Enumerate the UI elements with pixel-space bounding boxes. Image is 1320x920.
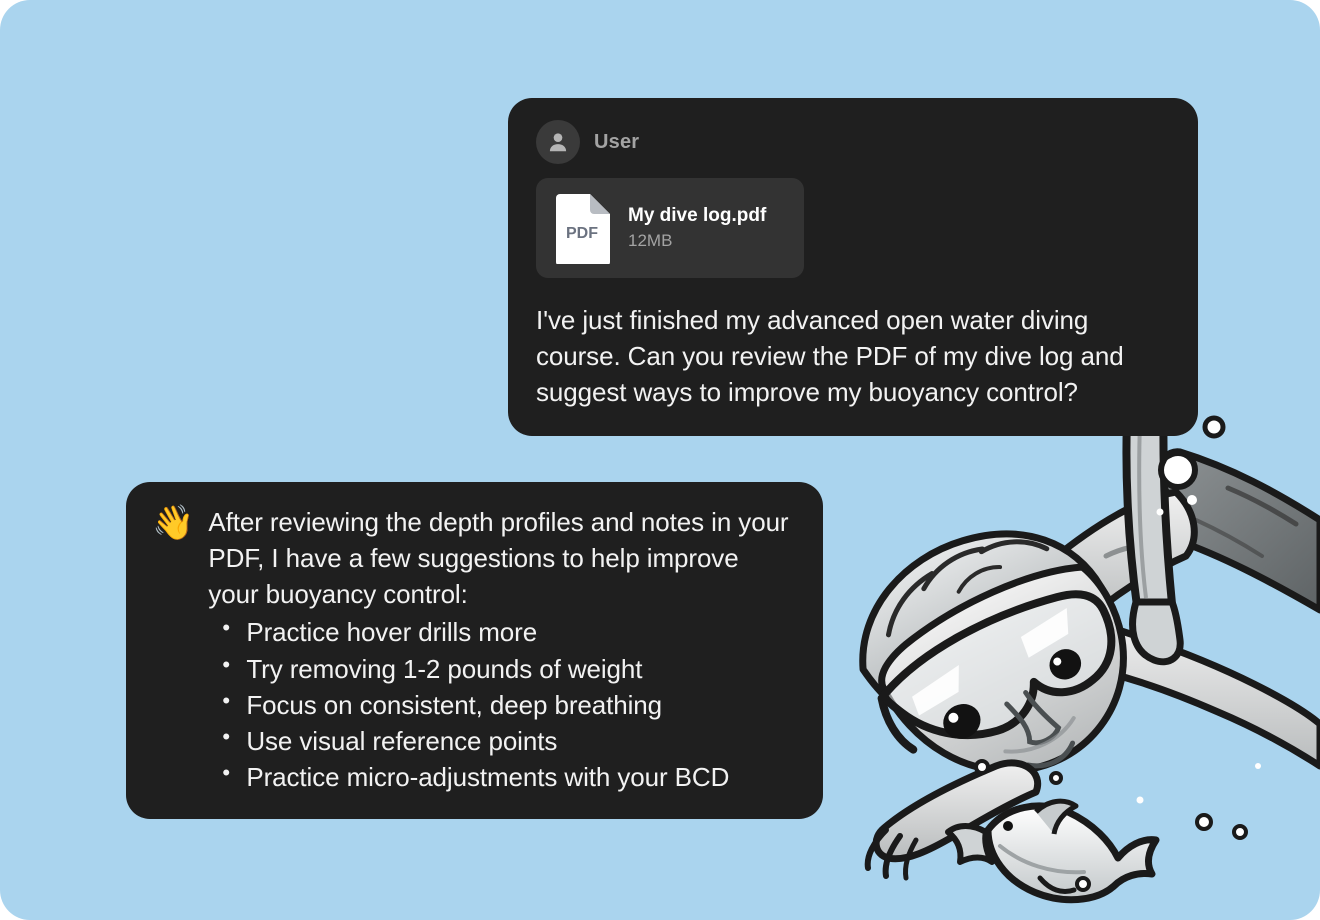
assistant-text-block: After reviewing the depth profiles and n…	[208, 504, 795, 795]
list-item: Use visual reference points	[246, 723, 795, 759]
assistant-message-bubble: 👋 After reviewing the depth profiles and…	[126, 482, 823, 819]
user-message-bubble: User PDF My dive log.pdf 12MB I've just …	[508, 98, 1198, 436]
diver-suited-arm	[1147, 452, 1320, 610]
list-item: Practice hover drills more	[246, 614, 795, 650]
diver-torso	[1051, 492, 1195, 624]
diver-left-arm	[868, 763, 1038, 878]
user-message-header: User	[536, 120, 1172, 164]
person-icon	[545, 129, 571, 155]
file-meta: My dive log.pdf 12MB	[628, 205, 766, 251]
suggestion-list: Practice hover drills more Try removing …	[208, 614, 795, 795]
fish	[948, 801, 1156, 900]
diver-head	[831, 493, 1163, 820]
message-author: User	[594, 131, 639, 154]
list-item: Try removing 1-2 pounds of weight	[246, 651, 795, 687]
pdf-icon-label: PDF	[566, 225, 598, 242]
list-item: Practice micro-adjustments with your BCD	[246, 759, 795, 795]
chat-scene: User PDF My dive log.pdf 12MB I've just …	[0, 0, 1320, 920]
file-name: My dive log.pdf	[628, 205, 766, 227]
assistant-intro-text: After reviewing the depth profiles and n…	[208, 504, 795, 612]
diver-right-arm	[1065, 620, 1320, 766]
air-bubbles	[976, 386, 1261, 890]
file-size: 12MB	[628, 231, 766, 251]
assistant-message-body: 👋 After reviewing the depth profiles and…	[152, 504, 795, 795]
waving-hand-emoji: 👋	[152, 506, 194, 542]
user-message-text: I've just finished my advanced open wate…	[536, 302, 1172, 410]
file-attachment-card[interactable]: PDF My dive log.pdf 12MB	[536, 178, 804, 278]
pdf-file-icon: PDF	[554, 192, 612, 264]
list-item: Focus on consistent, deep breathing	[246, 687, 795, 723]
avatar	[536, 120, 580, 164]
